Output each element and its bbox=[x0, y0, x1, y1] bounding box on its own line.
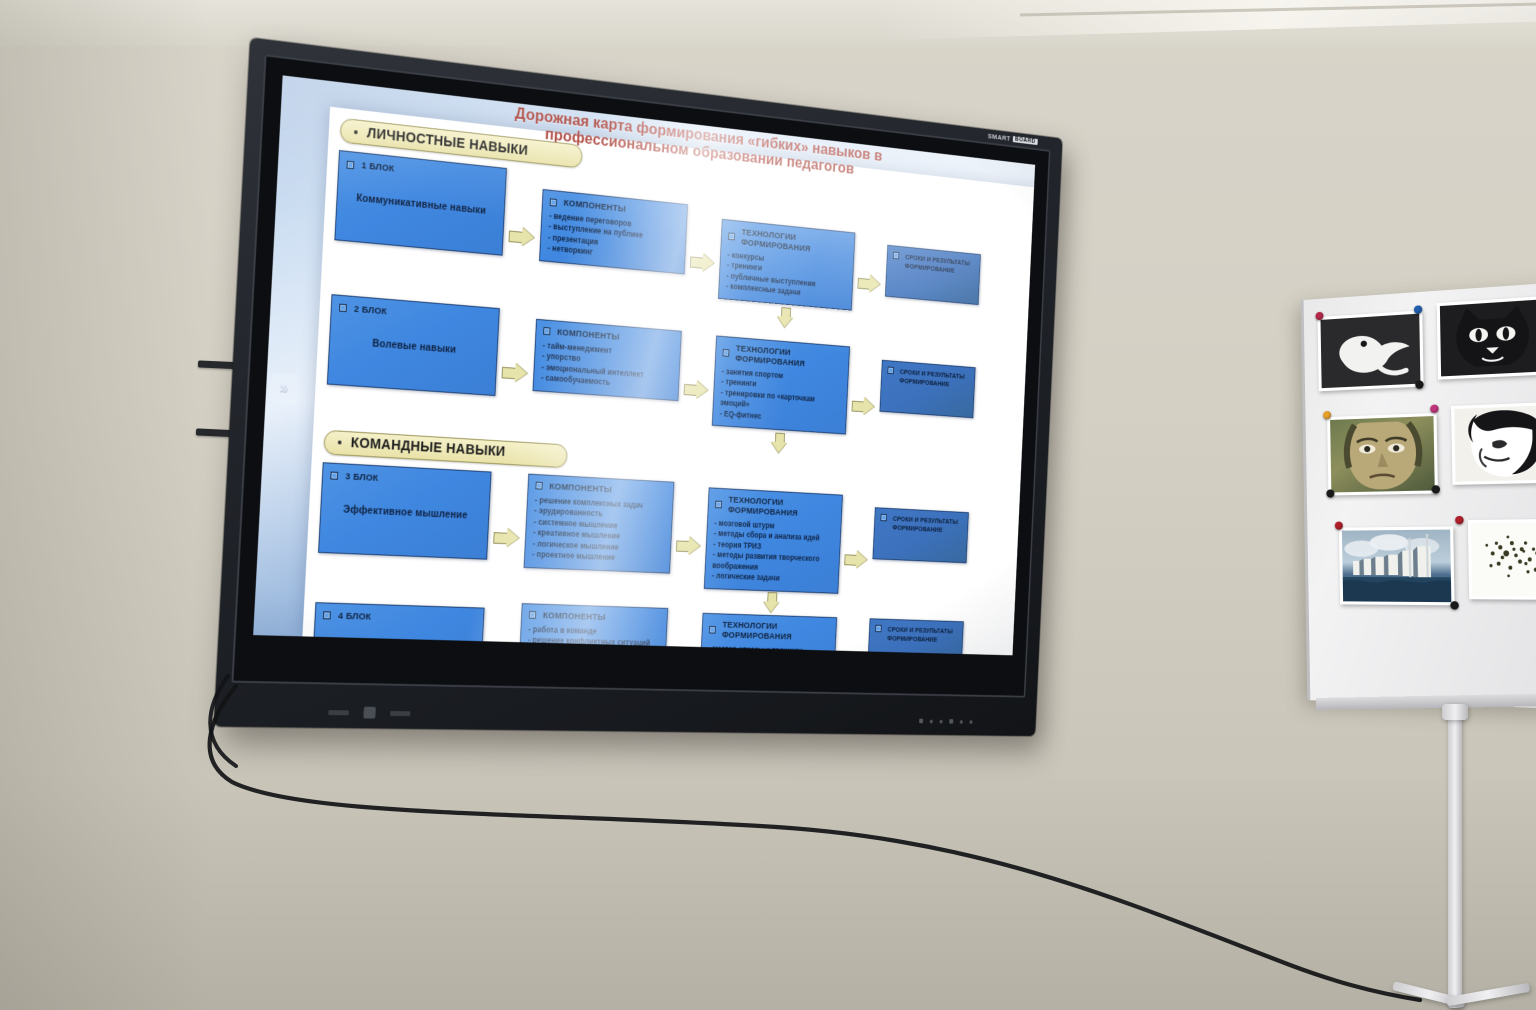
checkbox-icon bbox=[323, 611, 331, 619]
arrow-right-icon bbox=[503, 226, 541, 249]
block-title: Эффективное мышление bbox=[328, 503, 481, 522]
port-aux bbox=[390, 711, 410, 716]
technologies-list: мастер-классы и тренинги встреча с работ… bbox=[706, 643, 829, 655]
arrow-right-icon bbox=[496, 361, 534, 383]
checkbox-icon bbox=[535, 482, 542, 490]
port-usb bbox=[363, 707, 376, 719]
checkbox-icon bbox=[880, 514, 886, 521]
results-line2: ФОРМИРОВАНИЕ bbox=[887, 634, 938, 643]
checkbox-icon bbox=[893, 252, 899, 260]
list-item: мастер-классы и тренинги bbox=[708, 643, 829, 655]
technologies-list: занятия спортом тренинги тренировки по «… bbox=[719, 366, 841, 427]
checkbox-icon bbox=[709, 626, 716, 634]
roadmap-row-3: 3 БЛОК Эффективное мышление КОМПОНЕНТЫ bbox=[316, 462, 1013, 619]
double-chevron-right-icon[interactable]: » bbox=[269, 373, 299, 405]
results-header: СРОКИ И РЕЗУЛЬТАТЫ ФОРМИРОВАНИЕ bbox=[887, 366, 969, 390]
technologies-header: ТЕХНОЛОГИИ ФОРМИРОВАНИЯ bbox=[709, 619, 830, 643]
results-text: СРОКИ И РЕЗУЛЬТАТЫ ФОРМИРОВАНИЕ bbox=[892, 514, 958, 535]
checkbox-icon bbox=[715, 501, 722, 509]
duck-rabbit-illusion-icon bbox=[1321, 314, 1421, 389]
technologies-list: мозговой штурм методы сбора и анализа ид… bbox=[712, 518, 835, 586]
display-indicator-lights[interactable] bbox=[919, 719, 973, 724]
display-inner-rim: » Дорожная карта формирования «гибких» н… bbox=[231, 54, 1050, 697]
results-header: СРОКИ И РЕЗУЛЬТАТЫ ФОРМИРОВАНИЕ bbox=[875, 624, 958, 644]
card-rotating-spirals-illusion[interactable] bbox=[1468, 519, 1536, 600]
pin bbox=[1455, 516, 1464, 524]
card-cat-silhouette-illusion[interactable] bbox=[1437, 296, 1536, 380]
components-card-4[interactable]: КОМПОНЕНТЫ работа в команде решение конф… bbox=[518, 603, 668, 656]
brand-sub: BOARD bbox=[1013, 136, 1038, 145]
power-indicator bbox=[919, 719, 923, 723]
checkbox-icon bbox=[347, 160, 355, 169]
technologies-card-2[interactable]: ТЕХНОЛОГИИ ФОРМИРОВАНИЯ занятия спортом … bbox=[712, 335, 850, 434]
components-list: работа в команде решение конфликтных сит… bbox=[526, 624, 659, 655]
arrow-right-icon bbox=[488, 527, 526, 548]
old-young-woman-illusion-icon bbox=[1454, 405, 1536, 482]
section-label: КОМАНДНЫЕ НАВЫКИ bbox=[350, 436, 505, 461]
results-text: СРОКИ И РЕЗУЛЬТАТЫ ФОРМИРОВАНИЕ bbox=[905, 253, 971, 277]
checkbox-icon bbox=[550, 198, 557, 206]
components-label: КОМПОНЕНТЫ bbox=[543, 610, 606, 622]
technologies-label: ТЕХНОЛОГИИ ФОРМИРОВАНИЯ bbox=[722, 620, 830, 643]
arrow-right-icon bbox=[839, 549, 872, 568]
results-text: СРОКИ И РЕЗУЛЬТАТЫ ФОРМИРОВАНИЕ bbox=[887, 625, 953, 645]
block-card-4[interactable]: 4 БЛОК Управленческие навыки bbox=[311, 602, 485, 656]
whiteboard-panel[interactable] bbox=[1301, 283, 1536, 709]
checkbox-icon bbox=[339, 304, 347, 312]
results-header: СРОКИ И РЕЗУЛЬТАТЫ ФОРМИРОВАНИЕ bbox=[880, 514, 963, 536]
block-label: 3 БЛОК bbox=[345, 471, 379, 484]
block-card-header: 4 БЛОК bbox=[323, 610, 476, 625]
pin bbox=[1335, 522, 1343, 530]
card-ships-arch-illusion[interactable] bbox=[1339, 526, 1455, 605]
brand-name: SMART bbox=[988, 132, 1011, 143]
checkbox-icon bbox=[529, 611, 536, 619]
easel-post bbox=[1448, 708, 1462, 1008]
block-card-3[interactable]: 3 БЛОК Эффективное мышление bbox=[318, 462, 491, 559]
block-card-header: 2 БЛОК bbox=[339, 302, 492, 325]
bullet-icon bbox=[354, 130, 358, 134]
checkbox-icon bbox=[330, 472, 338, 480]
results-card-4[interactable]: СРОКИ И РЕЗУЛЬТАТЫ ФОРМИРОВАНИЕ bbox=[867, 618, 964, 655]
components-header: КОМПОНЕНТЫ bbox=[529, 610, 661, 624]
slide-content: ЛИЧНОСТНЫЕ НАВЫКИ 1 БЛОК Коммуникативные… bbox=[314, 118, 1026, 648]
checkbox-icon bbox=[723, 349, 730, 357]
pin bbox=[1450, 601, 1459, 609]
list-item: решение конфликтных ситуаций bbox=[528, 635, 660, 649]
arrow-right-icon bbox=[679, 379, 714, 400]
led-indicator bbox=[969, 720, 972, 724]
arrow-right-icon bbox=[853, 273, 886, 294]
checkbox-icon bbox=[887, 366, 893, 374]
card-old-young-woman-illusion[interactable] bbox=[1451, 401, 1536, 484]
status-indicator bbox=[930, 719, 933, 723]
block-card-2[interactable]: 2 БЛОК Волевые навыки bbox=[327, 294, 500, 396]
block-label: 2 БЛОК bbox=[354, 304, 388, 317]
arrow-right-icon bbox=[685, 252, 720, 274]
arrow-down-icon bbox=[711, 429, 846, 456]
arrow-right-icon bbox=[665, 649, 701, 656]
port-hdmi bbox=[328, 710, 349, 715]
results-card-1[interactable]: СРОКИ И РЕЗУЛЬТАТЫ ФОРМИРОВАНИЕ bbox=[885, 245, 981, 305]
card-duck-rabbit-illusion[interactable] bbox=[1318, 310, 1424, 391]
whiteboard-easel bbox=[1296, 300, 1536, 1010]
checkbox-icon bbox=[543, 327, 550, 335]
block-card-header: 3 БЛОК bbox=[330, 470, 483, 489]
technologies-card-1[interactable]: ТЕХНОЛОГИИ ФОРМИРОВАНИЯ конкурсы тренинг… bbox=[718, 219, 855, 310]
bullet-icon bbox=[338, 441, 342, 445]
components-label: КОМПОНЕНТЫ bbox=[557, 327, 620, 342]
ir-receiver bbox=[949, 719, 953, 723]
checkbox-icon bbox=[875, 624, 881, 631]
technologies-header: ТЕХНОЛОГИИ ФОРМИРОВАНИЯ bbox=[715, 494, 836, 520]
sensor-indicator bbox=[940, 719, 943, 723]
results-line2: ФОРМИРОВАНИЕ bbox=[892, 523, 942, 533]
results-card-2[interactable]: СРОКИ И РЕЗУЛЬТАТЫ ФОРМИРОВАНИЕ bbox=[879, 360, 975, 418]
components-label: КОМПОНЕНТЫ bbox=[549, 481, 612, 495]
components-card-1[interactable]: КОМПОНЕНТЫ ведение переговоров выступлен… bbox=[539, 189, 688, 274]
components-list: тайм-менеджмент упорство эмоциональный и… bbox=[541, 340, 674, 393]
technologies-label: ТЕХНОЛОГИИ ФОРМИРОВАНИЯ bbox=[728, 495, 836, 521]
pin bbox=[1415, 380, 1423, 389]
block-title: Коммуникативные навыки bbox=[345, 191, 497, 218]
results-card-3[interactable]: СРОКИ И РЕЗУЛЬТАТЫ ФОРМИРОВАНИЕ bbox=[872, 507, 968, 563]
list-item: встреча с работодателями и наставниками bbox=[707, 654, 828, 656]
display-screen[interactable]: » Дорожная карта формирования «гибких» н… bbox=[253, 75, 1035, 655]
components-card-3[interactable]: КОМПОНЕНТЫ решение комплексных задач эру… bbox=[524, 474, 675, 574]
pin bbox=[1430, 404, 1438, 413]
components-card-2[interactable]: КОМПОНЕНТЫ тайм-менеджмент упорство эмоц… bbox=[533, 319, 682, 401]
arrow-right-icon bbox=[671, 535, 707, 555]
components-list: ведение переговоров выступление на публи… bbox=[547, 211, 679, 266]
components-list: решение комплексных задач эрудированност… bbox=[532, 495, 666, 566]
easel-collar bbox=[1442, 704, 1468, 720]
list-item: управление компонентами bbox=[527, 646, 659, 656]
block-card-1[interactable]: 1 БЛОК Коммуникативные навыки bbox=[334, 150, 507, 256]
face-portrait-illusion-icon bbox=[1330, 416, 1435, 492]
block-title: Управленческие навыки bbox=[321, 642, 475, 655]
block-title: Волевые навыки bbox=[337, 335, 490, 358]
display-bezel: SMART BOARD » Дорожная карта формировани… bbox=[214, 38, 1063, 737]
led-indicator bbox=[960, 720, 963, 724]
rotating-spirals-illusion-icon bbox=[1471, 522, 1536, 597]
arrow-right-icon bbox=[847, 396, 880, 416]
pin bbox=[1432, 485, 1440, 493]
technologies-card-4[interactable]: ТЕХНОЛОГИИ ФОРМИРОВАНИЯ мастер-классы и … bbox=[698, 612, 837, 655]
arrow-right-icon bbox=[482, 644, 520, 656]
technologies-card-3[interactable]: ТЕХНОЛОГИИ ФОРМИРОВАНИЯ мозговой штурм м… bbox=[704, 487, 843, 593]
block-label: 1 БЛОК bbox=[361, 160, 394, 174]
ships-arch-illusion-icon bbox=[1342, 530, 1451, 603]
arrow-down-icon bbox=[703, 590, 838, 613]
block-label: 4 БЛОК bbox=[338, 610, 372, 622]
pin bbox=[1326, 489, 1334, 497]
presentation-slide: Дорожная карта формирования «гибких» нав… bbox=[302, 107, 1034, 656]
results-header: СРОКИ И РЕЗУЛЬТАТЫ ФОРМИРОВАНИЕ bbox=[892, 252, 974, 278]
display-ports bbox=[328, 706, 410, 719]
checkbox-icon bbox=[728, 232, 735, 240]
results-text: СРОКИ И РЕЗУЛЬТАТЫ ФОРМИРОВАНИЕ bbox=[899, 367, 965, 390]
card-face-portrait-illusion[interactable] bbox=[1327, 413, 1438, 496]
technologies-list: конкурсы тренинги публичные выступления … bbox=[726, 250, 847, 303]
cat-silhouette-illusion-icon bbox=[1440, 299, 1536, 376]
block-card-header: 1 БЛОК bbox=[346, 159, 498, 186]
